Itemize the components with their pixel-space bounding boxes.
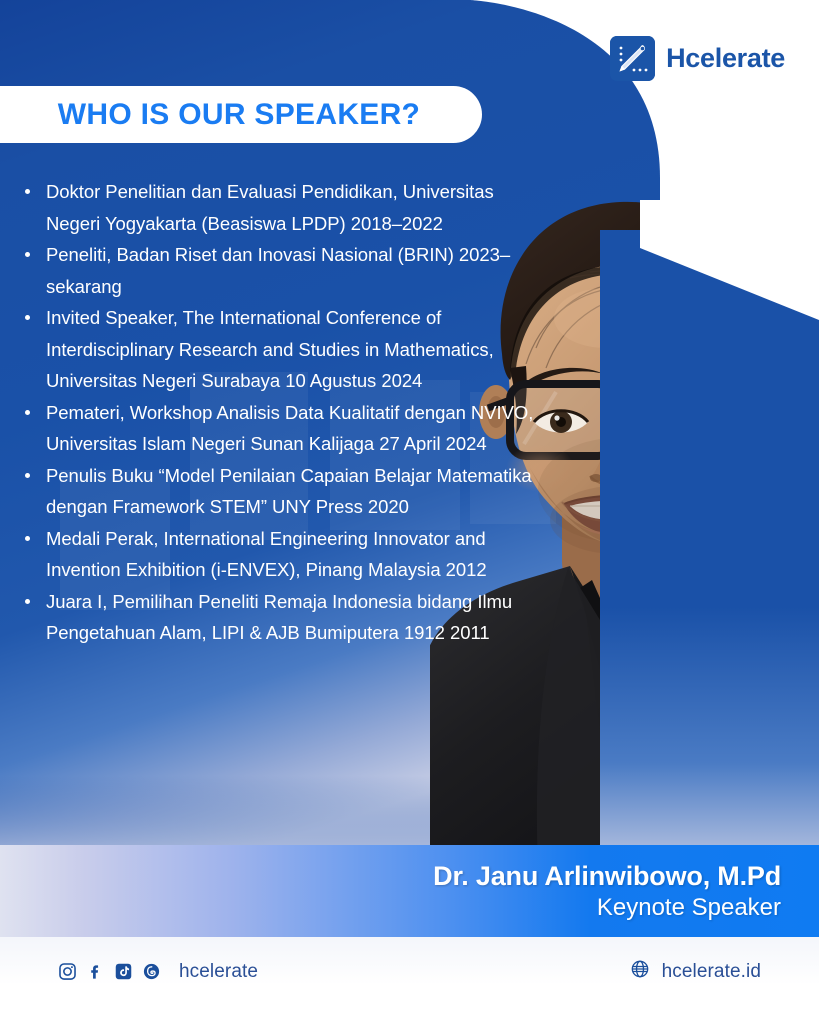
title-pill: WHO IS OUR SPEAKER?	[0, 86, 482, 143]
list-item: Juara I, Pemilihan Peneliti Remaja Indon…	[18, 586, 543, 649]
website-link[interactable]: hcelerate.id	[630, 959, 761, 984]
list-item: Penulis Buku “Model Penilaian Capaian Be…	[18, 460, 543, 523]
tiktok-icon[interactable]	[114, 962, 133, 981]
list-item: Peneliti, Badan Riset dan Inovasi Nasion…	[18, 239, 543, 302]
speaker-role: Keynote Speaker	[597, 893, 781, 923]
list-item: Medali Perak, International Engineering …	[18, 523, 543, 586]
speaker-poster: Hcelerate WHO IS OUR SPEAKER? Doktor Pen…	[0, 0, 819, 1024]
blue-panel-extension	[600, 230, 819, 880]
speaker-name: Dr. Janu Arlinwibowo, M.Pd	[433, 860, 781, 893]
list-item: Pemateri, Workshop Analisis Data Kualita…	[18, 397, 543, 460]
facebook-icon[interactable]	[86, 962, 105, 981]
page-title: WHO IS OUR SPEAKER?	[58, 98, 420, 132]
social-handle[interactable]: hcelerate	[179, 961, 258, 983]
rocket-pen-icon	[610, 36, 655, 81]
list-item: Doktor Penelitian dan Evaluasi Pendidika…	[18, 176, 543, 239]
credentials-list: Doktor Penelitian dan Evaluasi Pendidika…	[18, 176, 543, 649]
social-links: hcelerate	[58, 961, 258, 983]
globe-icon	[630, 959, 650, 984]
footer: hcelerate hcelerate.id	[0, 937, 819, 1024]
website-url[interactable]: hcelerate.id	[662, 961, 761, 983]
brand-logo[interactable]: Hcelerate	[610, 36, 785, 81]
instagram-icon[interactable]	[58, 962, 77, 981]
brand-name: Hcelerate	[666, 43, 785, 74]
speaker-name-banner: Dr. Janu Arlinwibowo, M.Pd Keynote Speak…	[0, 845, 819, 937]
threads-icon[interactable]	[142, 962, 161, 981]
list-item: Invited Speaker, The International Confe…	[18, 302, 543, 397]
